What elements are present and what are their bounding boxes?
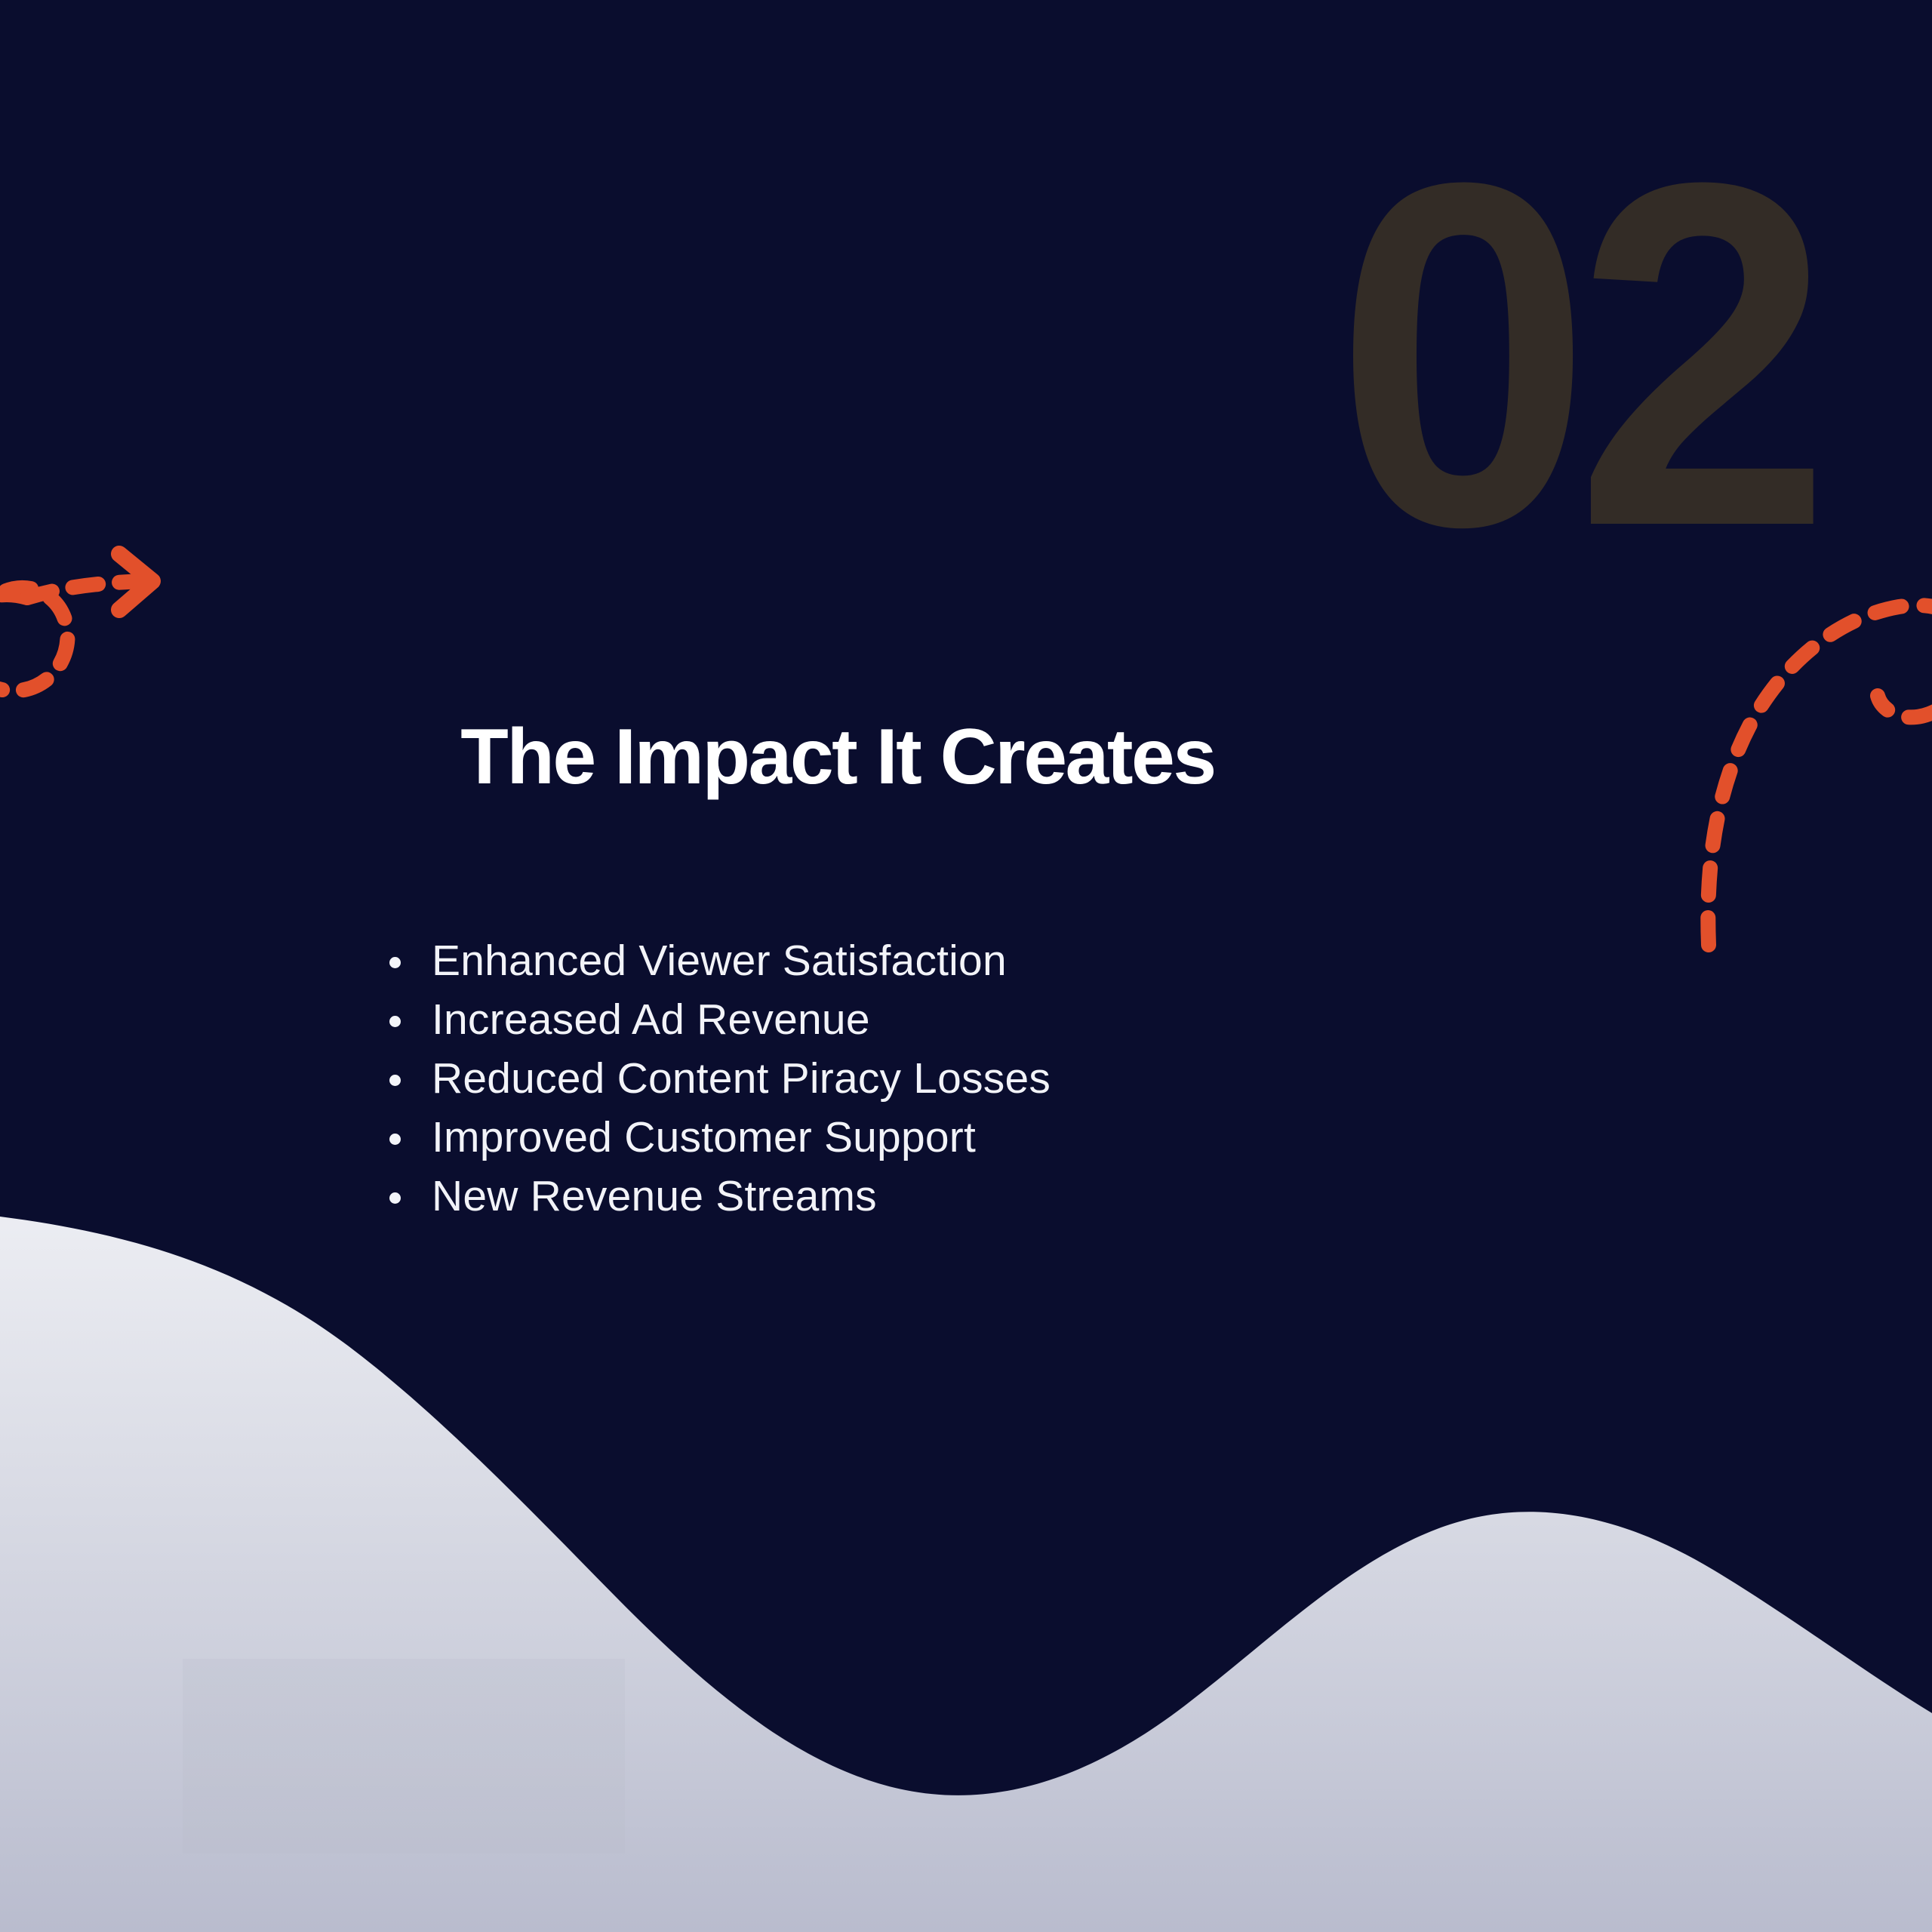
list-item-label: Enhanced Viewer Satisfaction (432, 937, 1007, 985)
bullet-dot-icon (389, 957, 401, 968)
dashed-arrow-right-icon (0, 528, 211, 777)
list-item: Reduced Content Piracy Losses (377, 1049, 1051, 1108)
list-item: Improved Customer Support (377, 1108, 1051, 1167)
list-item-label: Increased Ad Revenue (432, 995, 870, 1044)
bullet-dot-icon (389, 1192, 401, 1204)
list-item-label: Improved Customer Support (432, 1113, 976, 1161)
dashed-arc-icon (1698, 558, 1932, 966)
bullet-dot-icon (389, 1075, 401, 1086)
list-item: Enhanced Viewer Satisfaction (377, 931, 1051, 990)
page-title: The Impact It Creates (226, 713, 1449, 801)
list-item-label: New Revenue Streams (432, 1172, 877, 1220)
slide-canvas: 02 The Impact It Creates Enhanced Viewer… (0, 0, 1932, 1932)
list-item: New Revenue Streams (377, 1167, 1051, 1226)
footer-placeholder-block (183, 1659, 625, 1854)
bullet-dot-icon (389, 1016, 401, 1027)
list-item: Increased Ad Revenue (377, 990, 1051, 1049)
section-number: 02 (1335, 127, 1766, 583)
bullet-dot-icon (389, 1134, 401, 1145)
impact-bullet-list: Enhanced Viewer Satisfaction Increased A… (377, 931, 1051, 1226)
list-item-label: Reduced Content Piracy Losses (432, 1054, 1051, 1103)
